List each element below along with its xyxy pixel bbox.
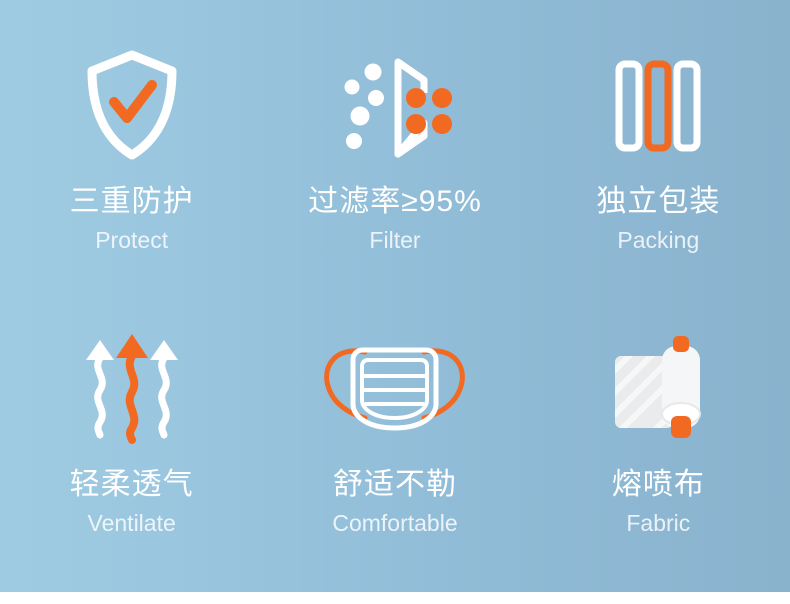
feature-label-en: Ventilate xyxy=(88,512,176,535)
feature-label-en: Packing xyxy=(617,229,699,252)
feature-item-packing: 独立包装 Packing xyxy=(527,0,790,299)
feature-label-cn: 三重防护 xyxy=(70,187,194,217)
feature-label-en: Protect xyxy=(95,229,168,252)
bottom-white-strip xyxy=(0,592,790,598)
feature-label-cn: 轻柔透气 xyxy=(70,470,194,500)
feature-item-comfortable: 舒适不勒 Comfortable xyxy=(263,299,526,598)
feature-label-cn: 独立包装 xyxy=(596,187,720,217)
feature-grid: 三重防护 Protect xyxy=(0,0,790,598)
feature-item-ventilate: 轻柔透气 Ventilate xyxy=(0,299,263,598)
fabric-roll-icon xyxy=(598,326,718,446)
airflow-arrows-icon xyxy=(72,326,192,446)
feature-label-en: Comfortable xyxy=(332,512,457,535)
feature-label-cn: 舒适不勒 xyxy=(333,470,457,500)
feature-label-en: Filter xyxy=(369,229,420,252)
individual-packing-bars-icon xyxy=(598,45,718,165)
feature-board: 三重防护 Protect xyxy=(0,0,790,598)
feature-item-protect: 三重防护 Protect xyxy=(0,0,263,299)
feature-item-fabric: 熔喷布 Fabric xyxy=(527,299,790,598)
feature-label-cn: 熔喷布 xyxy=(612,470,705,500)
feature-item-filter: 过滤率≥95% Filter xyxy=(263,0,526,299)
shield-check-icon xyxy=(72,45,192,165)
filter-particles-icon xyxy=(335,45,455,165)
feature-label-cn: 过滤率≥95% xyxy=(308,187,482,217)
face-mask-icon xyxy=(335,326,455,446)
feature-label-en: Fabric xyxy=(626,512,690,535)
